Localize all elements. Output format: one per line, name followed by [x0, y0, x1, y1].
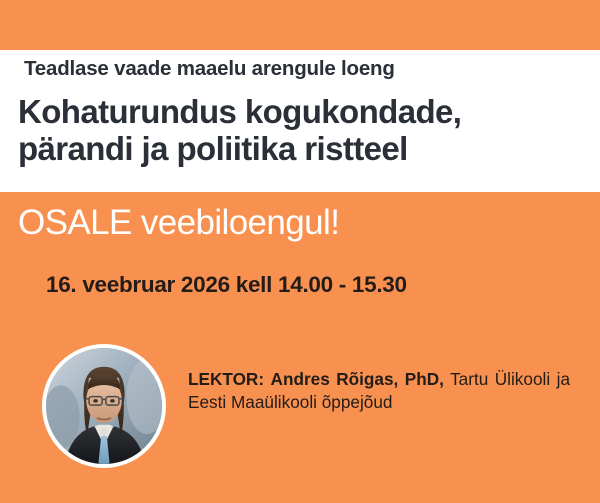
headline-line-2: pärandi ja poliitika ristteel: [18, 131, 582, 168]
lecturer-name: Andres Rõigas,: [271, 369, 399, 389]
call-to-action-text: OSALE veebiloengul!: [18, 203, 339, 243]
lecturer-portrait-photo: [42, 344, 166, 468]
headline-line-1: Kohaturundus kogukondade,: [18, 94, 582, 131]
event-datetime: 16. veebruar 2026 kell 14.00 - 15.30: [46, 272, 407, 298]
lecturer-label: LEKTOR:: [188, 369, 264, 389]
lecturer-degree: PhD,: [405, 369, 444, 389]
poster-kicker: Teadlase vaade maaelu arengule loeng: [24, 57, 395, 81]
event-poster: Teadlase vaade maaelu arengule loeng Koh…: [0, 0, 600, 503]
lecturer-info: LEKTOR: Andres Rõigas, PhD, Tartu Ülikoo…: [188, 368, 570, 413]
poster-headline: Kohaturundus kogukondade, pärandi ja pol…: [18, 94, 582, 168]
